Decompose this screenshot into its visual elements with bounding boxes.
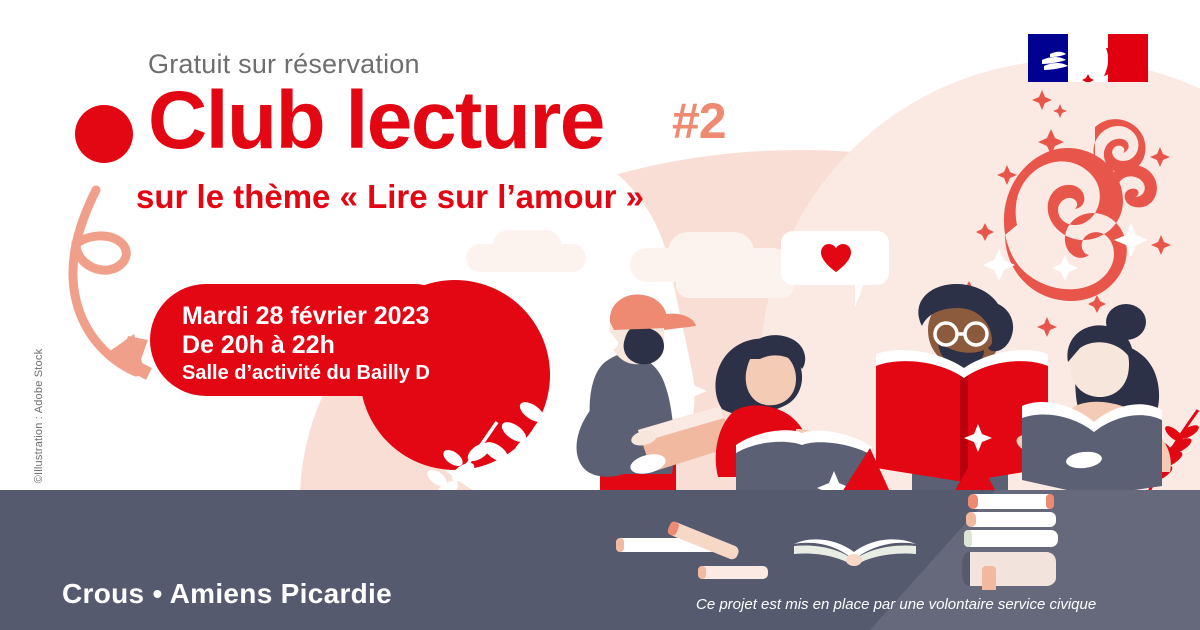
red-shape-decoration [840,444,900,494]
page-title: Club lecture [148,80,604,162]
poster-canvas: Gratuit sur réservation Club lecture #2 … [0,0,1200,630]
cloud-shape [668,232,754,272]
event-time: De 20h à 22h [182,331,470,360]
open-book-icon [790,524,920,568]
red-dot-icon [75,105,133,163]
brand-name: Crous • Amiens Picardie [62,578,392,610]
cloud-shape [492,230,562,264]
logo-sparkle-icon [1028,84,1068,120]
marianne-republique-francaise-logo [1028,34,1148,82]
event-info-badge: Mardi 28 février 2023 De 20h à 22h Salle… [150,284,470,396]
illustration-credit: ©Illustration : Adobe Stock [33,331,45,501]
heart-icon [820,243,852,273]
event-date: Mardi 28 février 2023 [182,302,470,331]
page-title-superscript: #2 [672,92,726,150]
book-stack-icon [960,490,1070,590]
red-shape-decoration [952,452,1002,494]
footer-note: Ce projet est mis en place par une volon… [696,596,1096,613]
figure-woman-bun-reading [1018,300,1200,500]
page-subtitle: sur le thème « Lire sur l’amour » [136,178,644,216]
event-location: Salle d’activité du Bailly D [182,360,470,386]
book-flat-icon [696,562,774,584]
book-tilted-icon [664,520,744,564]
